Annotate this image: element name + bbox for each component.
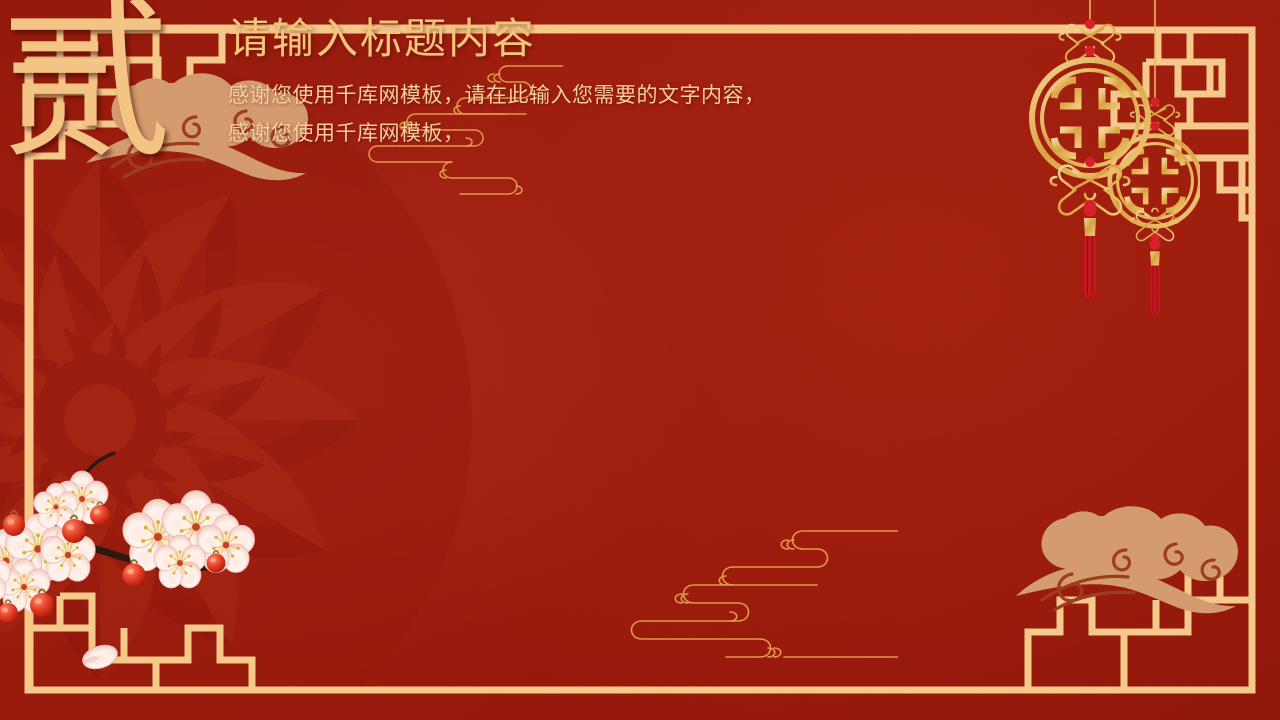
- auspicious-cloud-bottom-right: [1008, 488, 1278, 638]
- page-title: 请输入标题内容: [228, 14, 788, 64]
- hanging-ornaments: [1000, 0, 1200, 326]
- blossom-cluster-left: [0, 471, 108, 612]
- ornament-small: [1110, 98, 1200, 317]
- ornament-large: [1032, 19, 1148, 300]
- section-numeral: 贰: [0, 0, 172, 168]
- falling-petal: [79, 641, 120, 673]
- copy-group: 请输入标题内容 感谢您使用千库网模板，请在此输入您需要的文字内容，感谢您使用千库…: [228, 14, 788, 152]
- line-art-cloud-bottom: [598, 495, 898, 685]
- body-paragraph: 感谢您使用千库网模板，请在此输入您需要的文字内容，感谢您使用千库网模板，: [228, 76, 773, 152]
- plum-blossom-branch: [0, 445, 272, 720]
- slide-canvas: 贰 请输入标题内容 感谢您使用千库网模板，请在此输入您需要的文字内容，感谢您使用…: [0, 0, 1280, 720]
